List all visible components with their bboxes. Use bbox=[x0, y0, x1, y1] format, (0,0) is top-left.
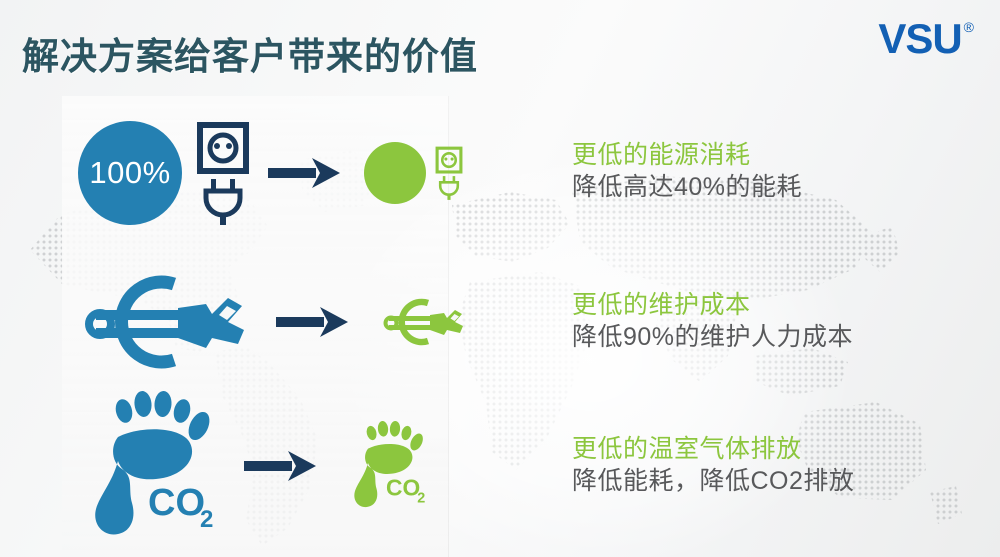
logo-wordmark: VSU bbox=[878, 18, 961, 60]
emissions-subline: 降低能耗，降低CO2排放 bbox=[572, 466, 972, 498]
energy-icon-group: 100% bbox=[78, 108, 448, 238]
emissions-text-block: 更低的温室气体排放 降低能耗，降低CO2排放 bbox=[572, 434, 972, 497]
carbon-footprint-icon: CO 2 bbox=[78, 391, 218, 541]
carbon-footprint-icon-small: CO 2 bbox=[344, 421, 428, 511]
benefit-row-maintenance: 更低的维护成本 降低90%的维护人力成本 bbox=[0, 262, 1000, 382]
benefit-row-emissions: CO 2 CO 2 更低的温室气体排放 降 bbox=[0, 386, 1000, 546]
energy-subline: 降低高达40%的能耗 bbox=[572, 172, 972, 204]
power-socket-plug-icon bbox=[194, 121, 252, 225]
power-socket-plug-icon-small bbox=[434, 145, 464, 201]
maintenance-subline: 降低90%的维护人力成本 bbox=[572, 322, 972, 354]
svg-text:2: 2 bbox=[200, 506, 213, 533]
arrow-right-icon bbox=[268, 156, 342, 190]
emissions-icon-group: CO 2 CO 2 bbox=[78, 386, 448, 546]
arrow-right-icon bbox=[244, 449, 318, 483]
benefit-row-energy: 100% bbox=[0, 108, 1000, 238]
euro-wrench-icon bbox=[78, 268, 250, 376]
euro-wrench-icon-small bbox=[380, 295, 466, 349]
energy-text-block: 更低的能源消耗 降低高达40%的能耗 bbox=[572, 140, 972, 203]
vsu-logo: VSU ® bbox=[878, 18, 974, 60]
energy-headline: 更低的能源消耗 bbox=[572, 140, 972, 172]
green-result-circle bbox=[364, 142, 426, 204]
registered-trademark-icon: ® bbox=[964, 20, 974, 34]
page-title: 解决方案给客户带来的价值 bbox=[22, 26, 478, 80]
percent-circle: 100% bbox=[78, 121, 182, 225]
maintenance-headline: 更低的维护成本 bbox=[572, 290, 972, 322]
svg-text:CO: CO bbox=[386, 474, 420, 500]
emissions-headline: 更低的温室气体排放 bbox=[572, 434, 972, 466]
slide-canvas: 解决方案给客户带来的价值 VSU ® 100% bbox=[0, 0, 1000, 557]
svg-text:2: 2 bbox=[417, 491, 425, 507]
maintenance-text-block: 更低的维护成本 降低90%的维护人力成本 bbox=[572, 290, 972, 353]
maintenance-icon-group bbox=[78, 262, 448, 382]
arrow-right-icon bbox=[276, 305, 350, 339]
percent-label: 100% bbox=[89, 155, 170, 191]
svg-text:CO: CO bbox=[148, 482, 205, 524]
